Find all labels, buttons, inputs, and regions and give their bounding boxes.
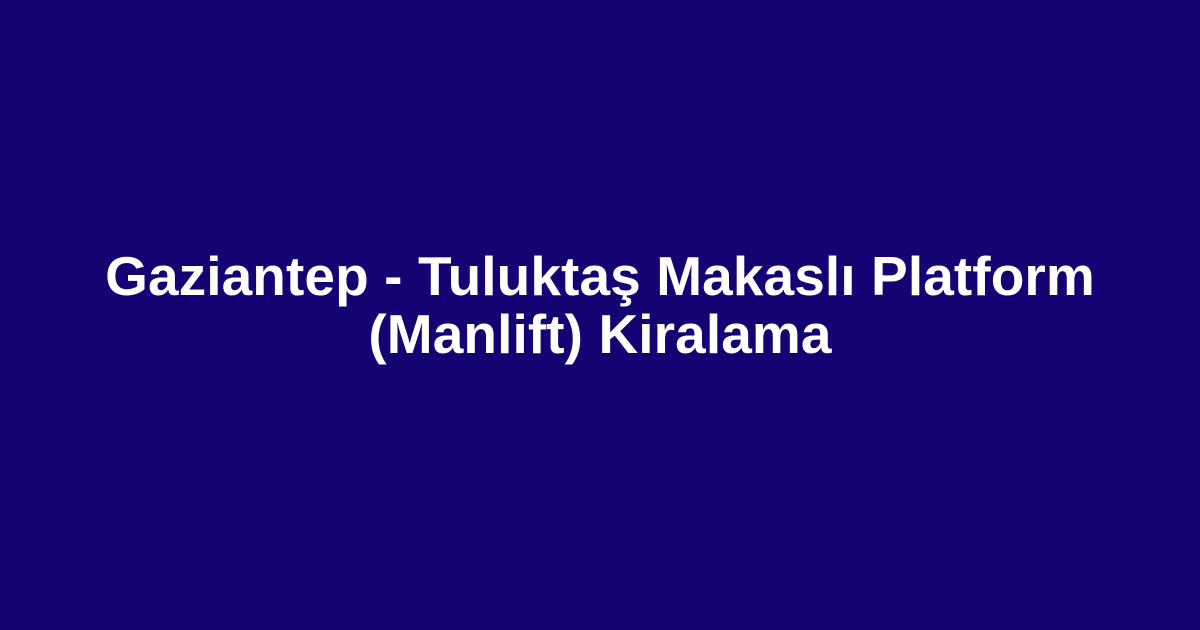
banner-content: Gaziantep - Tuluktaş Makaslı Platform (M… [0,257,1200,373]
og-banner-card: Gaziantep - Tuluktaş Makaslı Platform (M… [0,0,1200,630]
banner-title: Gaziantep - Tuluktaş Makaslı Platform (M… [96,247,1104,363]
